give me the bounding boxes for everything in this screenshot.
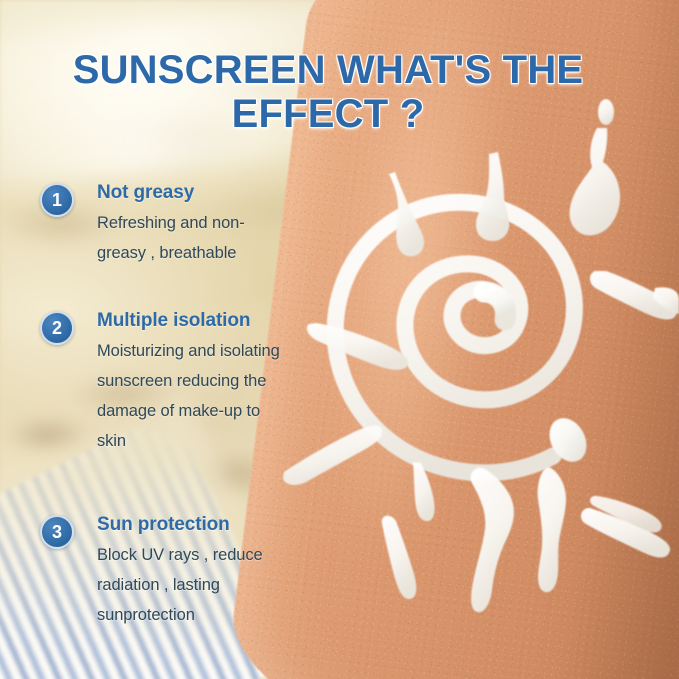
benefit-text-3: Sun protection Block UV rays , reduce ra… [97,512,308,630]
benefit-heading-3: Sun protection [97,512,308,538]
benefit-item-2: 2 Multiple isolation Moisturizing and is… [40,308,308,456]
benefit-heading-2: Multiple isolation [97,308,308,334]
benefit-number-badge-2: 2 [40,311,74,345]
benefit-number-badge-3: 3 [40,515,74,549]
page-title: SUNSCREEN WHAT'S THE EFFECT ? [48,48,608,136]
infographic-canvas: SUNSCREEN WHAT'S THE EFFECT ? 1 Not grea… [0,0,679,679]
benefit-description-3: Block UV rays , reduce radiation , lasti… [97,540,308,630]
benefit-heading-1: Not greasy [97,180,308,206]
benefit-description-2: Moisturizing and isolating sunscreen red… [97,336,308,456]
benefit-description-1: Refreshing and non- greasy , breathable [97,208,308,268]
benefit-text-2: Multiple isolation Moisturizing and isol… [97,308,308,456]
benefit-item-3: 3 Sun protection Block UV rays , reduce … [40,512,308,630]
benefit-number-badge-1: 1 [40,183,74,217]
benefit-text-1: Not greasy Refreshing and non- greasy , … [97,180,308,268]
benefit-item-1: 1 Not greasy Refreshing and non- greasy … [40,180,308,268]
